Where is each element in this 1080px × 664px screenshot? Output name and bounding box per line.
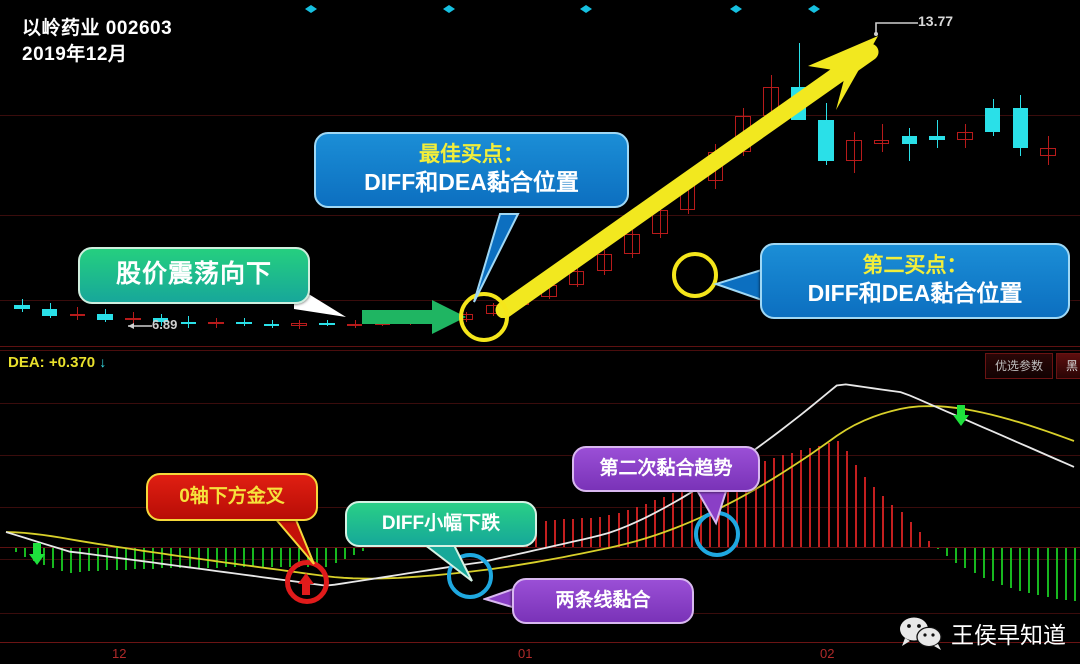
callout-golden-cross-line1: 0轴下方金叉 <box>160 485 304 508</box>
peak-price-label: 13.77 <box>918 13 953 29</box>
candle-body <box>1040 148 1056 156</box>
watermark: 王侯早知道 <box>899 616 1066 650</box>
candle-body <box>70 314 86 316</box>
callout-two-lines-converge-line1: 两条线黏合 <box>526 589 680 612</box>
candle-body <box>42 309 58 315</box>
callout-second-buy-point-line1: 第二买点： <box>778 253 1052 279</box>
low-price-leader-line <box>126 320 154 332</box>
candle-body <box>181 322 197 324</box>
chart-title-block: 以岭药业 002603 2019年12月 <box>22 16 172 68</box>
callout-best-buy-point-line1: 最佳买点： <box>332 142 611 168</box>
watermark-text: 王侯早知道 <box>951 616 1066 650</box>
stock-name-code: 以岭药业 002603 <box>22 16 172 42</box>
chart-toolbar[interactable]: 优选参数 黑 <box>985 353 1080 379</box>
candle-body <box>957 132 973 140</box>
low-price-label: 6.89 <box>152 317 177 332</box>
stock-chart-screenshot: 13.77 6.89 120102 DEA: +0.370 <box>0 0 1080 664</box>
callout-golden-cross: 0轴下方金叉 <box>146 473 318 521</box>
dea-readout: DEA: +0.370 ↓ <box>8 354 106 371</box>
sell-signal-down-arrow-icon <box>28 541 46 567</box>
candle-body <box>97 314 113 320</box>
macd-sell-signal-arrow-icon <box>952 404 970 428</box>
callout-best-buy-point-tail <box>452 212 522 307</box>
candle-body <box>985 108 1001 132</box>
x-axis-tick-label: 12 <box>112 646 126 661</box>
candle-body <box>264 324 280 326</box>
callout-second-convergence-line1: 第二次黏合趋势 <box>586 457 746 480</box>
callout-diff-decline: DIFF小幅下跌 <box>345 501 537 547</box>
candle-body <box>291 323 307 326</box>
candle-wick <box>937 120 938 149</box>
callout-price-down-line1: 股价震荡向下 <box>94 259 294 290</box>
callout-price-down: 股价震荡向下 <box>78 247 310 304</box>
candle-body <box>929 136 945 140</box>
dea-readout-label: DEA: +0.370 <box>8 354 95 371</box>
candle-body <box>236 322 252 324</box>
callout-second-buy-point: 第二买点： DIFF和DEA黏合位置 <box>760 243 1070 319</box>
callout-diff-decline-line1: DIFF小幅下跌 <box>359 512 523 535</box>
wechat-icon <box>899 616 943 650</box>
chart-period: 2019年12月 <box>22 42 172 68</box>
callout-second-convergence: 第二次黏合趋势 <box>572 446 760 492</box>
candle-body <box>14 305 30 309</box>
candle-body <box>1013 108 1029 149</box>
dea-trend-arrow-icon: ↓ <box>99 354 106 370</box>
candle-body <box>319 323 335 325</box>
callout-best-buy-point-line2: DIFF和DEA黏合位置 <box>332 168 611 196</box>
callout-best-buy-point: 最佳买点： DIFF和DEA黏合位置 <box>314 132 629 208</box>
optimize-params-button[interactable]: 优选参数 <box>985 353 1053 379</box>
callout-two-lines-converge: 两条线黏合 <box>512 578 694 624</box>
candle-body <box>208 322 224 324</box>
callout-second-buy-point-line2: DIFF和DEA黏合位置 <box>778 279 1052 307</box>
secondary-param-button[interactable]: 黑 <box>1056 353 1080 379</box>
x-axis-tick-label: 02 <box>820 646 834 661</box>
x-axis-tick-label: 01 <box>518 646 532 661</box>
